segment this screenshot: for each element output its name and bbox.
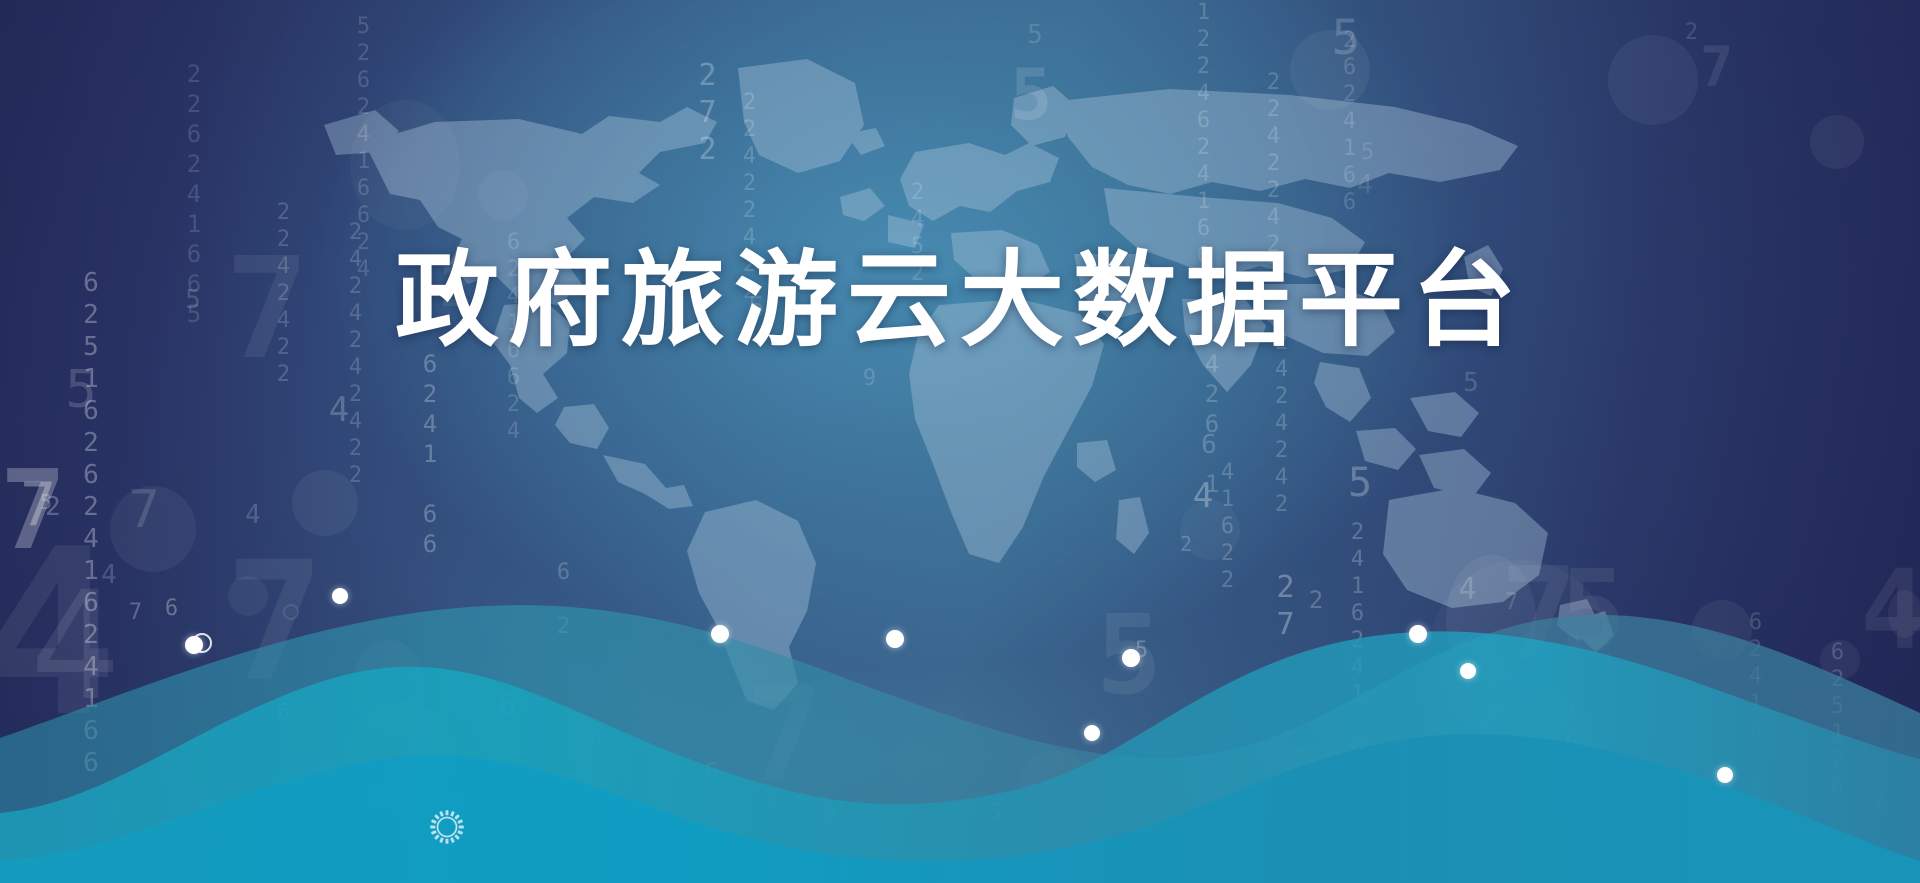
tourism-bigdata-banner: 4 7 7 5 7 7 4 5 4 7 5 7 2 5 7 4 — [0, 0, 1920, 883]
gear-icon[interactable] — [428, 808, 466, 846]
page-title-text: 政府旅游云大数据平台 — [395, 248, 1525, 352]
background-vignette — [0, 0, 1920, 883]
page-title: 政府旅游云大数据平台 — [0, 248, 1920, 352]
